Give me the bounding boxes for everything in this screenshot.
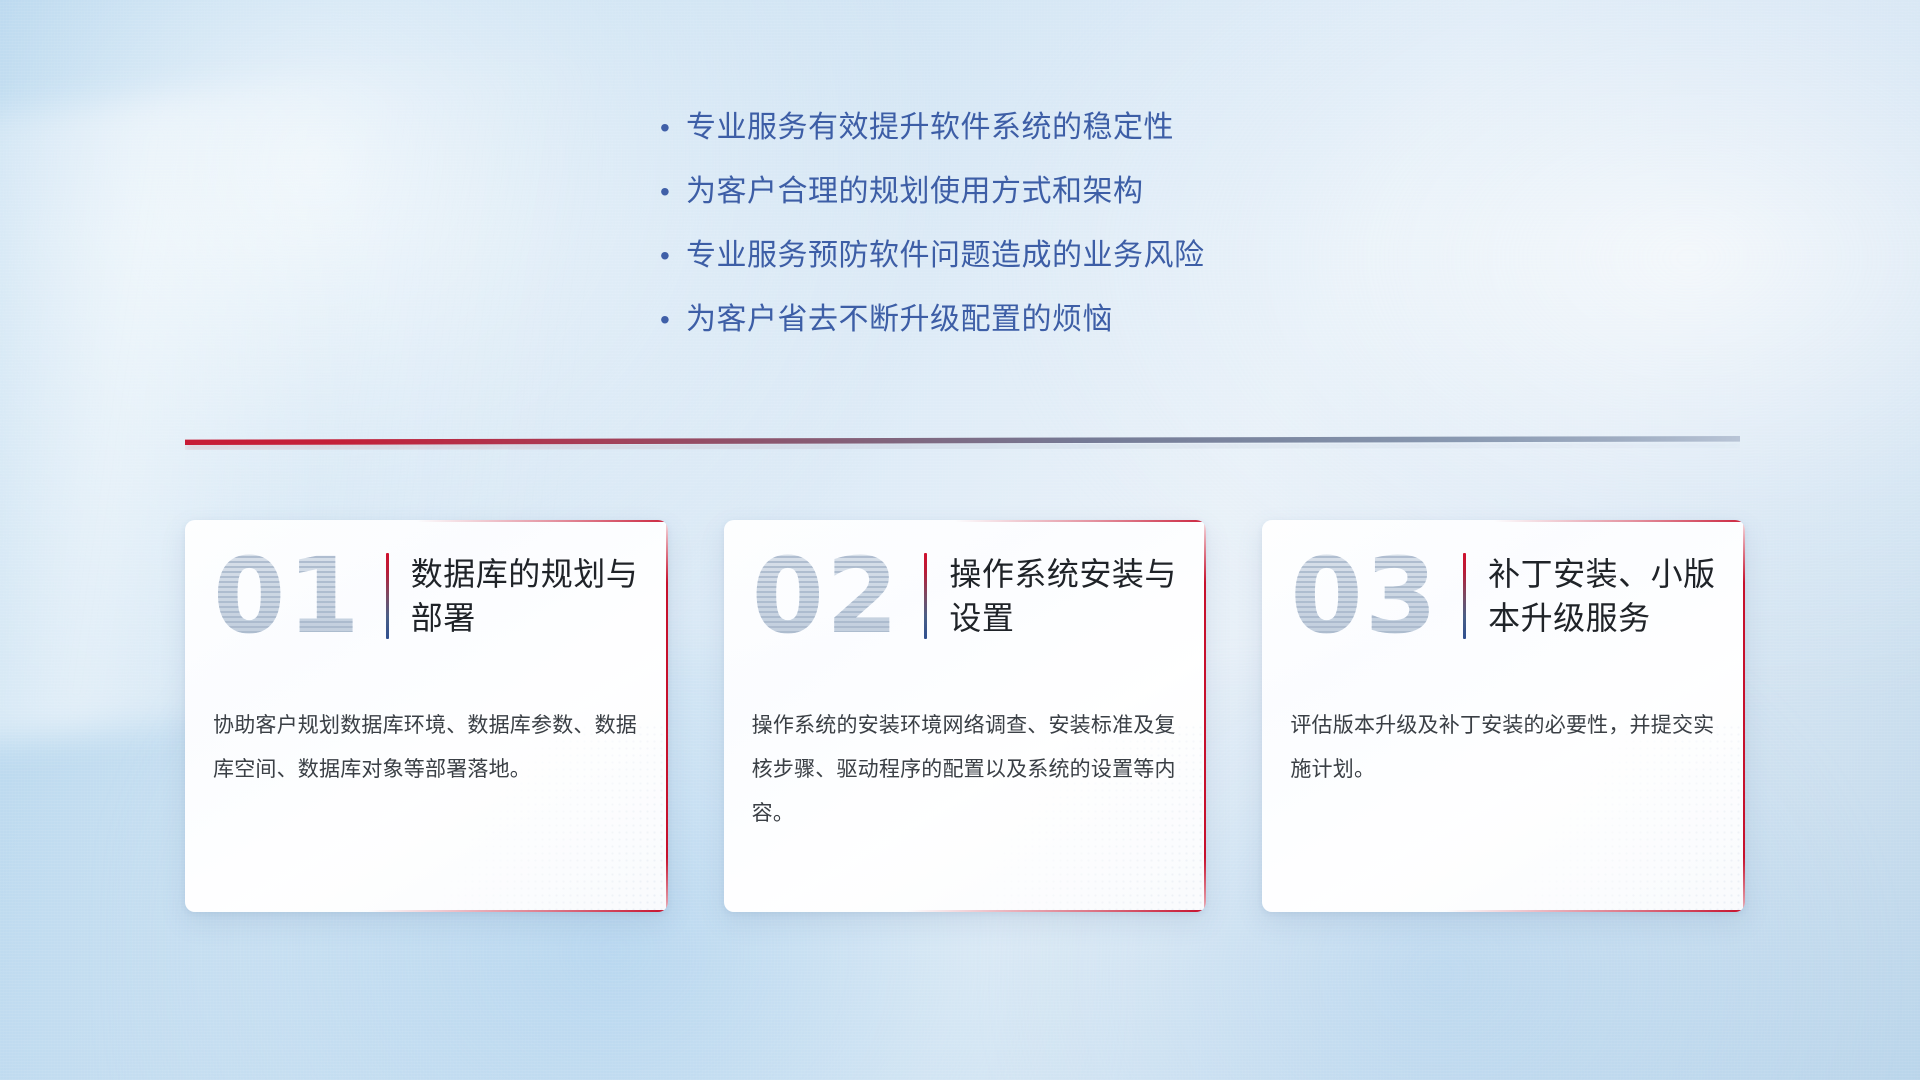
list-item: • 为客户合理的规划使用方式和架构 [660, 172, 1420, 212]
bullet-dot-icon: • [660, 172, 686, 212]
slide-content: • 专业服务有效提升软件系统的稳定性 • 为客户合理的规划使用方式和架构 • 专… [0, 0, 1920, 1080]
card-title: 数据库的规划与部署 [411, 552, 642, 640]
list-item: • 专业服务预防软件问题造成的业务风险 [660, 236, 1420, 276]
benefits-bullet-list: • 专业服务有效提升软件系统的稳定性 • 为客户合理的规划使用方式和架构 • 专… [660, 108, 1420, 340]
card-number-watermark: 03 [1290, 544, 1447, 648]
card-description: 评估版本升级及补丁安装的必要性，并提交实施计划。 [1262, 672, 1745, 792]
service-card[interactable]: 01 数据库的规划与部署 协助客户规划数据库环境、数据库参数、数据库空间、数据库… [185, 520, 668, 912]
card-header: 02 操作系统安装与设置 [724, 520, 1207, 672]
card-header: 03 补丁安装、小版本升级服务 [1262, 520, 1745, 672]
bullet-dot-icon: • [660, 108, 686, 148]
card-title-divider [1463, 553, 1466, 639]
card-title: 补丁安装、小版本升级服务 [1488, 552, 1719, 640]
bullet-text: 为客户合理的规划使用方式和架构 [686, 172, 1144, 212]
card-description: 操作系统的安装环境网络调查、安装标准及复核步骤、驱动程序的配置以及系统的设置等内… [724, 672, 1207, 836]
service-card[interactable]: 02 操作系统安装与设置 操作系统的安装环境网络调查、安装标准及复核步骤、驱动程… [724, 520, 1207, 912]
service-card[interactable]: 03 补丁安装、小版本升级服务 评估版本升级及补丁安装的必要性，并提交实施计划。 [1262, 520, 1745, 912]
card-description: 协助客户规划数据库环境、数据库参数、数据库空间、数据库对象等部署落地。 [185, 672, 668, 792]
card-number-watermark: 02 [752, 544, 909, 648]
service-card-list: 01 数据库的规划与部署 协助客户规划数据库环境、数据库参数、数据库空间、数据库… [185, 520, 1745, 930]
list-item: • 为客户省去不断升级配置的烦恼 [660, 300, 1420, 340]
card-header: 01 数据库的规划与部署 [185, 520, 668, 672]
card-title: 操作系统安装与设置 [949, 552, 1180, 640]
card-title-divider [386, 553, 389, 639]
card-number-watermark: 01 [213, 544, 370, 648]
card-title-divider [924, 553, 927, 639]
bullet-dot-icon: • [660, 300, 686, 340]
list-item: • 专业服务有效提升软件系统的稳定性 [660, 108, 1420, 148]
bullet-text: 专业服务预防软件问题造成的业务风险 [686, 236, 1205, 276]
bullet-text: 专业服务有效提升软件系统的稳定性 [686, 108, 1174, 148]
bullet-dot-icon: • [660, 236, 686, 276]
bullet-text: 为客户省去不断升级配置的烦恼 [686, 300, 1113, 340]
section-divider [185, 432, 1740, 448]
